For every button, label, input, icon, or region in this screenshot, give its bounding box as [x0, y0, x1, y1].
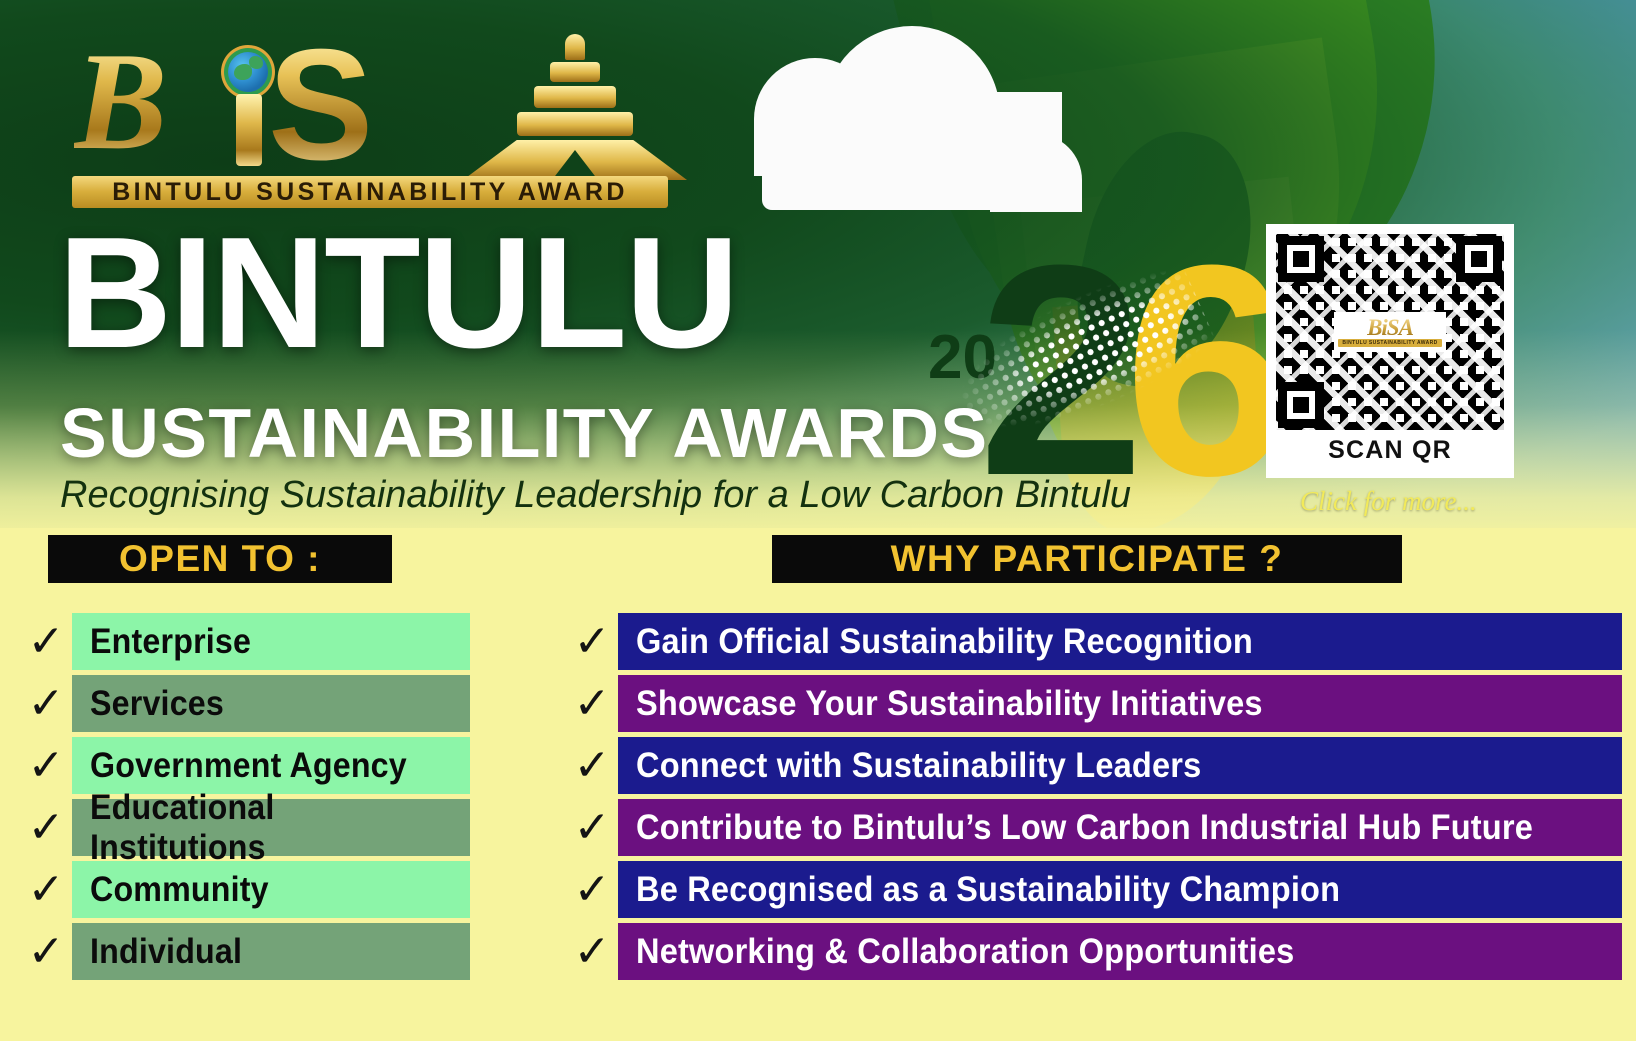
check-icon: ✓	[566, 613, 618, 670]
why-participate-item-row[interactable]: ✓Connect with Sustainability Leaders	[566, 737, 1622, 794]
qr-caption: SCAN QR	[1276, 436, 1504, 465]
why-participate-item-pill: Contribute to Bintulu’s Low Carbon Indus…	[618, 799, 1622, 856]
why-participate-heading: WHY PARTICIPATE ?	[891, 538, 1284, 580]
check-icon: ✓	[566, 675, 618, 732]
open-to-item-label: Services	[90, 684, 224, 724]
open-to-item-label: Educational Institutions	[90, 788, 440, 868]
check-icon: ✓	[20, 923, 72, 980]
why-participate-item-pill: Connect with Sustainability Leaders	[618, 737, 1622, 794]
why-participate-item-row[interactable]: ✓Contribute to Bintulu’s Low Carbon Indu…	[566, 799, 1622, 856]
why-participate-item-row[interactable]: ✓Showcase Your Sustainability Initiative…	[566, 675, 1622, 732]
open-to-item-pill: Enterprise	[72, 613, 470, 670]
check-icon: ✓	[566, 923, 618, 980]
logo-band-text: BINTULU SUSTAINABILITY AWARD	[112, 178, 628, 207]
page-title: BINTULU	[58, 218, 737, 368]
bisa-logo-mark: B S	[68, 26, 668, 176]
logo-letter-b: B	[74, 32, 167, 172]
check-icon: ✓	[20, 613, 72, 670]
logo-letter-s: S	[268, 30, 373, 180]
why-participate-item-row[interactable]: ✓Be Recognised as a Sustainability Champ…	[566, 861, 1622, 918]
open-to-item-row[interactable]: ✓Services	[20, 675, 470, 732]
qr-logo-letters: BiSA	[1367, 317, 1413, 339]
open-to-item-pill: Individual	[72, 923, 470, 980]
why-participate-list: ✓Gain Official Sustainability Recognitio…	[566, 613, 1622, 985]
year-prefix-20: 20	[928, 322, 997, 393]
year-digit-2: 2	[978, 220, 1145, 520]
qr-click-for-more-link[interactable]: Click for more...	[1300, 486, 1477, 517]
why-participate-item-pill: Gain Official Sustainability Recognition	[618, 613, 1622, 670]
open-to-item-row[interactable]: ✓Enterprise	[20, 613, 470, 670]
open-to-list: ✓Enterprise✓Services✓Government Agency✓E…	[20, 613, 470, 985]
qr-embedded-logo: BiSA BINTULU SUSTAINABILITY AWARD	[1334, 312, 1446, 352]
open-to-item-pill: Educational Institutions	[72, 799, 470, 856]
open-to-item-label: Community	[90, 870, 269, 910]
logo-letter-i	[236, 94, 262, 166]
open-to-item-label: Individual	[90, 932, 242, 972]
open-to-item-row[interactable]: ✓Government Agency	[20, 737, 470, 794]
open-to-item-pill: Services	[72, 675, 470, 732]
open-to-item-label: Government Agency	[90, 746, 407, 786]
why-participate-item-label: Networking & Collaboration Opportunities	[636, 932, 1294, 972]
check-icon: ✓	[566, 799, 618, 856]
qr-finder-top-right	[1456, 236, 1502, 282]
open-to-header-bar: OPEN TO :	[48, 535, 392, 583]
open-to-item-pill: Government Agency	[72, 737, 470, 794]
open-to-item-label: Enterprise	[90, 622, 251, 662]
why-participate-item-label: Contribute to Bintulu’s Low Carbon Indus…	[636, 808, 1533, 848]
qr-finder-bottom-left	[1278, 382, 1324, 428]
pyramid-tower-icon	[460, 32, 690, 178]
why-participate-item-row[interactable]: ✓Gain Official Sustainability Recognitio…	[566, 613, 1622, 670]
open-to-item-pill: Community	[72, 861, 470, 918]
check-icon: ✓	[566, 861, 618, 918]
why-participate-item-pill: Showcase Your Sustainability Initiatives	[618, 675, 1622, 732]
why-participate-item-row[interactable]: ✓Networking & Collaboration Opportunitie…	[566, 923, 1622, 980]
why-participate-header-bar: WHY PARTICIPATE ?	[772, 535, 1402, 583]
why-participate-item-label: Connect with Sustainability Leaders	[636, 746, 1201, 786]
qr-panel[interactable]: BiSA BINTULU SUSTAINABILITY AWARD SCAN Q…	[1266, 224, 1514, 478]
logo-band: BINTULU SUSTAINABILITY AWARD	[72, 176, 668, 208]
why-participate-item-label: Gain Official Sustainability Recognition	[636, 622, 1253, 662]
check-icon: ✓	[20, 737, 72, 794]
bisa-logo: B S BINTULU SUSTAINABILITY AWARD	[68, 26, 668, 210]
qr-finder-top-left	[1278, 236, 1324, 282]
open-to-item-row[interactable]: ✓Educational Institutions	[20, 799, 470, 856]
qr-logo-band: BINTULU SUSTAINABILITY AWARD	[1338, 339, 1441, 347]
globe-icon	[228, 52, 268, 92]
poster-canvas: B S BINTULU SUSTAINABILITY AWARD BINTULU…	[0, 0, 1636, 1041]
page-subtitle: SUSTAINABILITY AWARDS	[60, 398, 989, 468]
open-to-item-row[interactable]: ✓Community	[20, 861, 470, 918]
check-icon: ✓	[20, 861, 72, 918]
check-icon: ✓	[566, 737, 618, 794]
why-participate-item-label: Be Recognised as a Sustainability Champi…	[636, 870, 1340, 910]
why-participate-item-pill: Networking & Collaboration Opportunities	[618, 923, 1622, 980]
year-graphic: 2 6 20	[912, 236, 1212, 504]
open-to-item-row[interactable]: ✓Individual	[20, 923, 470, 980]
check-icon: ✓	[20, 799, 72, 856]
qr-code-icon[interactable]: BiSA BINTULU SUSTAINABILITY AWARD	[1276, 234, 1504, 430]
check-icon: ✓	[20, 675, 72, 732]
why-participate-item-label: Showcase Your Sustainability Initiatives	[636, 684, 1263, 724]
open-to-heading: OPEN TO :	[119, 538, 321, 580]
why-participate-item-pill: Be Recognised as a Sustainability Champi…	[618, 861, 1622, 918]
